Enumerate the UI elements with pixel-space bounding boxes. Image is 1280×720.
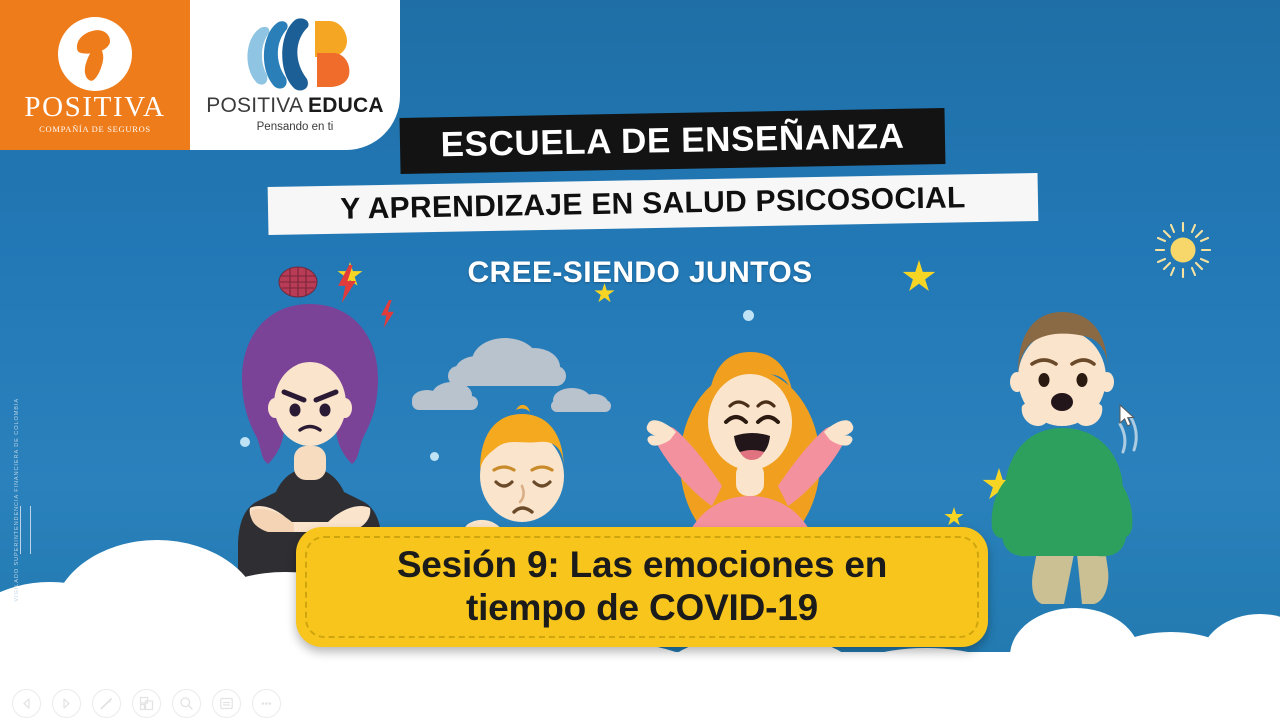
slide-tagline: CREE-SIENDO JUNTOS [0, 256, 1280, 290]
slide-canvas[interactable]: ESCUELA DE ENSEÑANZA Y APRENDIZAJE EN SA… [0, 0, 1280, 686]
educa-wordmark: POSITIVA EDUCA [206, 95, 383, 116]
presentation-viewer: ESCUELA DE ENSEÑANZA Y APRENDIZAJE EN SA… [0, 0, 1280, 720]
regulatory-vertical-text: VIGILADO SUPERINTENDENCIA FINANCIERA DE … [14, 398, 20, 602]
triangle-left-icon [20, 697, 33, 710]
character-scared-boy [986, 302, 1140, 612]
presentation-toolbar [0, 686, 1280, 720]
title-line-2: Y APRENDIZAJE EN SALUD PSICOSOCIAL [340, 181, 966, 226]
triangle-right-icon [60, 697, 73, 710]
title-line-1: ESCUELA DE ENSEÑANZA [440, 117, 904, 165]
title-band-secondary: Y APRENDIZAJE EN SALUD PSICOSOCIAL [268, 173, 1039, 235]
dot-decoration [430, 452, 439, 461]
brand-logo-bar: POSITIVA COMPAÑÍA DE SEGUROS POSITIVA ED… [0, 0, 400, 150]
positiva-wordmark: POSITIVA [24, 93, 165, 122]
educa-word-light: POSITIVA [206, 94, 308, 117]
pen-icon [99, 696, 114, 711]
star-decoration [944, 507, 964, 527]
magnifier-icon [179, 696, 194, 711]
educa-emblem-icon [229, 17, 361, 91]
zoom-tool-button[interactable] [172, 689, 201, 718]
educa-word-bold: EDUCA [308, 94, 384, 117]
cloud-shape [960, 664, 1280, 686]
positiva-emblem-icon [58, 17, 132, 91]
slide-overview-button[interactable] [132, 689, 161, 718]
gray-cloud [448, 366, 566, 386]
positiva-educa-logo: POSITIVA EDUCA Pensando en ti [190, 0, 400, 150]
session-line-2: tiempo de COVID-19 [397, 587, 887, 630]
session-banner-text: Sesión 9: Las emociones en tiempo de COV… [371, 544, 913, 630]
mouse-pointer [1119, 404, 1136, 428]
session-banner: Sesión 9: Las emociones en tiempo de COV… [296, 527, 988, 647]
regulatory-bar-decoration [20, 506, 31, 554]
next-slide-button[interactable] [52, 689, 81, 718]
positiva-subtitle: COMPAÑÍA DE SEGUROS [39, 124, 151, 134]
layers-icon [139, 696, 154, 711]
notes-icon [219, 696, 234, 711]
notes-panel-button[interactable] [212, 689, 241, 718]
previous-slide-button[interactable] [12, 689, 41, 718]
positiva-logo: POSITIVA COMPAÑÍA DE SEGUROS [0, 0, 190, 150]
educa-tagline: Pensando en ti [257, 121, 334, 133]
session-line-1: Sesión 9: Las emociones en [397, 544, 887, 587]
more-options-button[interactable] [252, 689, 281, 718]
title-band-primary: ESCUELA DE ENSEÑANZA [400, 108, 946, 174]
pen-tool-button[interactable] [92, 689, 121, 718]
ellipsis-icon [259, 696, 274, 711]
